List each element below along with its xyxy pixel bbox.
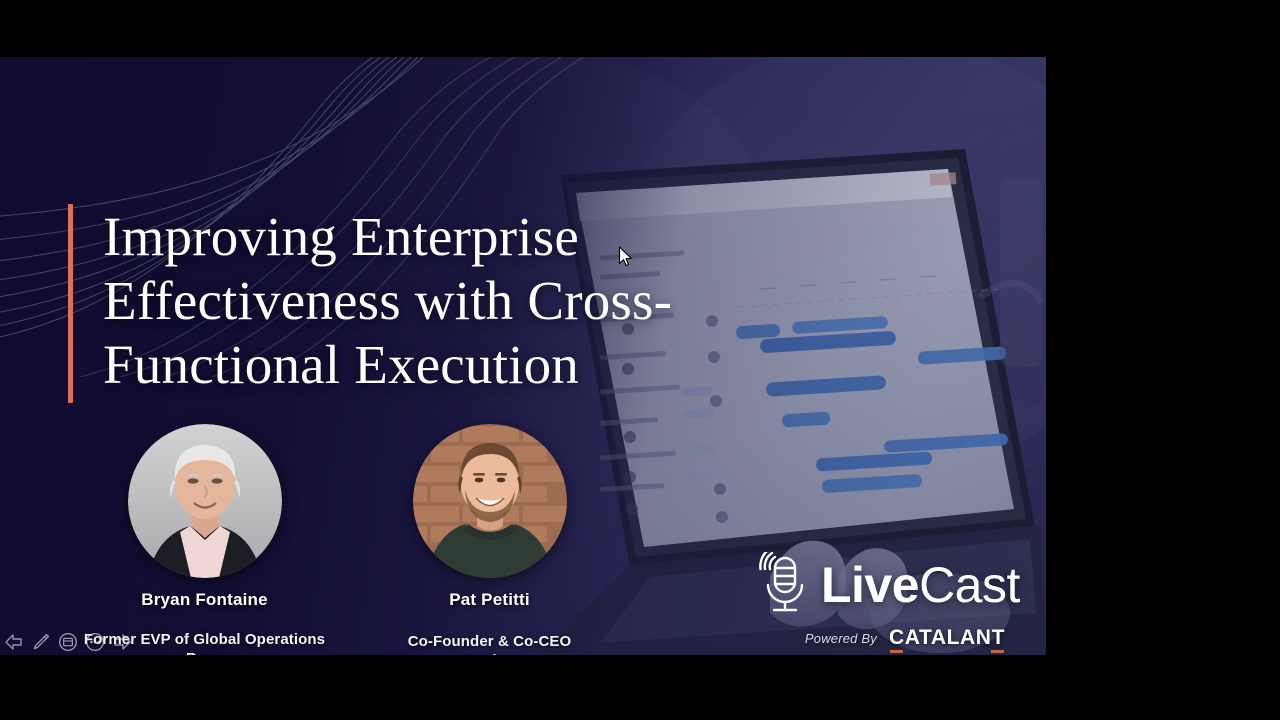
speaker-bryan-fontaine: Bryan Fontaine Former EVP of Global Oper… <box>62 424 347 655</box>
livecast-live-text: Live <box>821 557 919 613</box>
slide-view-icon[interactable] <box>58 632 78 652</box>
catalant-logo: CATALANT <box>889 626 1005 650</box>
speaker-name: Pat Petitti <box>347 590 632 610</box>
speaker-name: Bryan Fontaine <box>62 590 347 610</box>
left-arrow-icon[interactable] <box>4 632 24 652</box>
arrow-pointer-icon <box>618 246 633 268</box>
livecast-wordmark: LiveCast <box>821 559 1020 611</box>
microphone-icon <box>757 552 811 618</box>
slide-canvas[interactable]: Improving Enterprise Effectiveness with … <box>0 57 1046 655</box>
catalant-underline-left <box>890 650 903 653</box>
powered-by-label: Powered By <box>805 631 877 646</box>
speakers-group: Bryan Fontaine Former EVP of Global Oper… <box>62 424 632 655</box>
speaker-company-text: Catalant <box>460 652 520 655</box>
livecast-logo: LiveCast Powered By CATALANT <box>757 552 1027 650</box>
speaker-role-text: Co-Founder & Co-CEO <box>408 633 572 650</box>
presentation-screen: Improving Enterprise Effectiveness with … <box>0 0 1280 720</box>
catalant-wordmark: CATALANT <box>889 626 1005 649</box>
speaker-company-text: Bose <box>186 650 223 655</box>
avatar-bryan-fontaine <box>128 424 282 578</box>
pen-icon[interactable] <box>31 632 51 652</box>
livecast-cast-text: Cast <box>919 557 1020 613</box>
catalant-underline-right <box>991 650 1004 653</box>
title-accent-bar <box>68 204 73 403</box>
slide-title: Improving Enterprise Effectiveness with … <box>103 205 803 397</box>
speaker-pat-petitti: Pat Petitti Co-Founder & Co-CEO Catalant <box>347 424 632 655</box>
ellipsis-icon[interactable] <box>85 632 105 652</box>
presentation-control-bar[interactable] <box>4 632 132 652</box>
right-arrow-icon[interactable] <box>112 632 132 652</box>
avatar-pat-petitti <box>413 424 567 578</box>
speaker-role: Co-Founder & Co-CEO Catalant <box>347 632 632 655</box>
